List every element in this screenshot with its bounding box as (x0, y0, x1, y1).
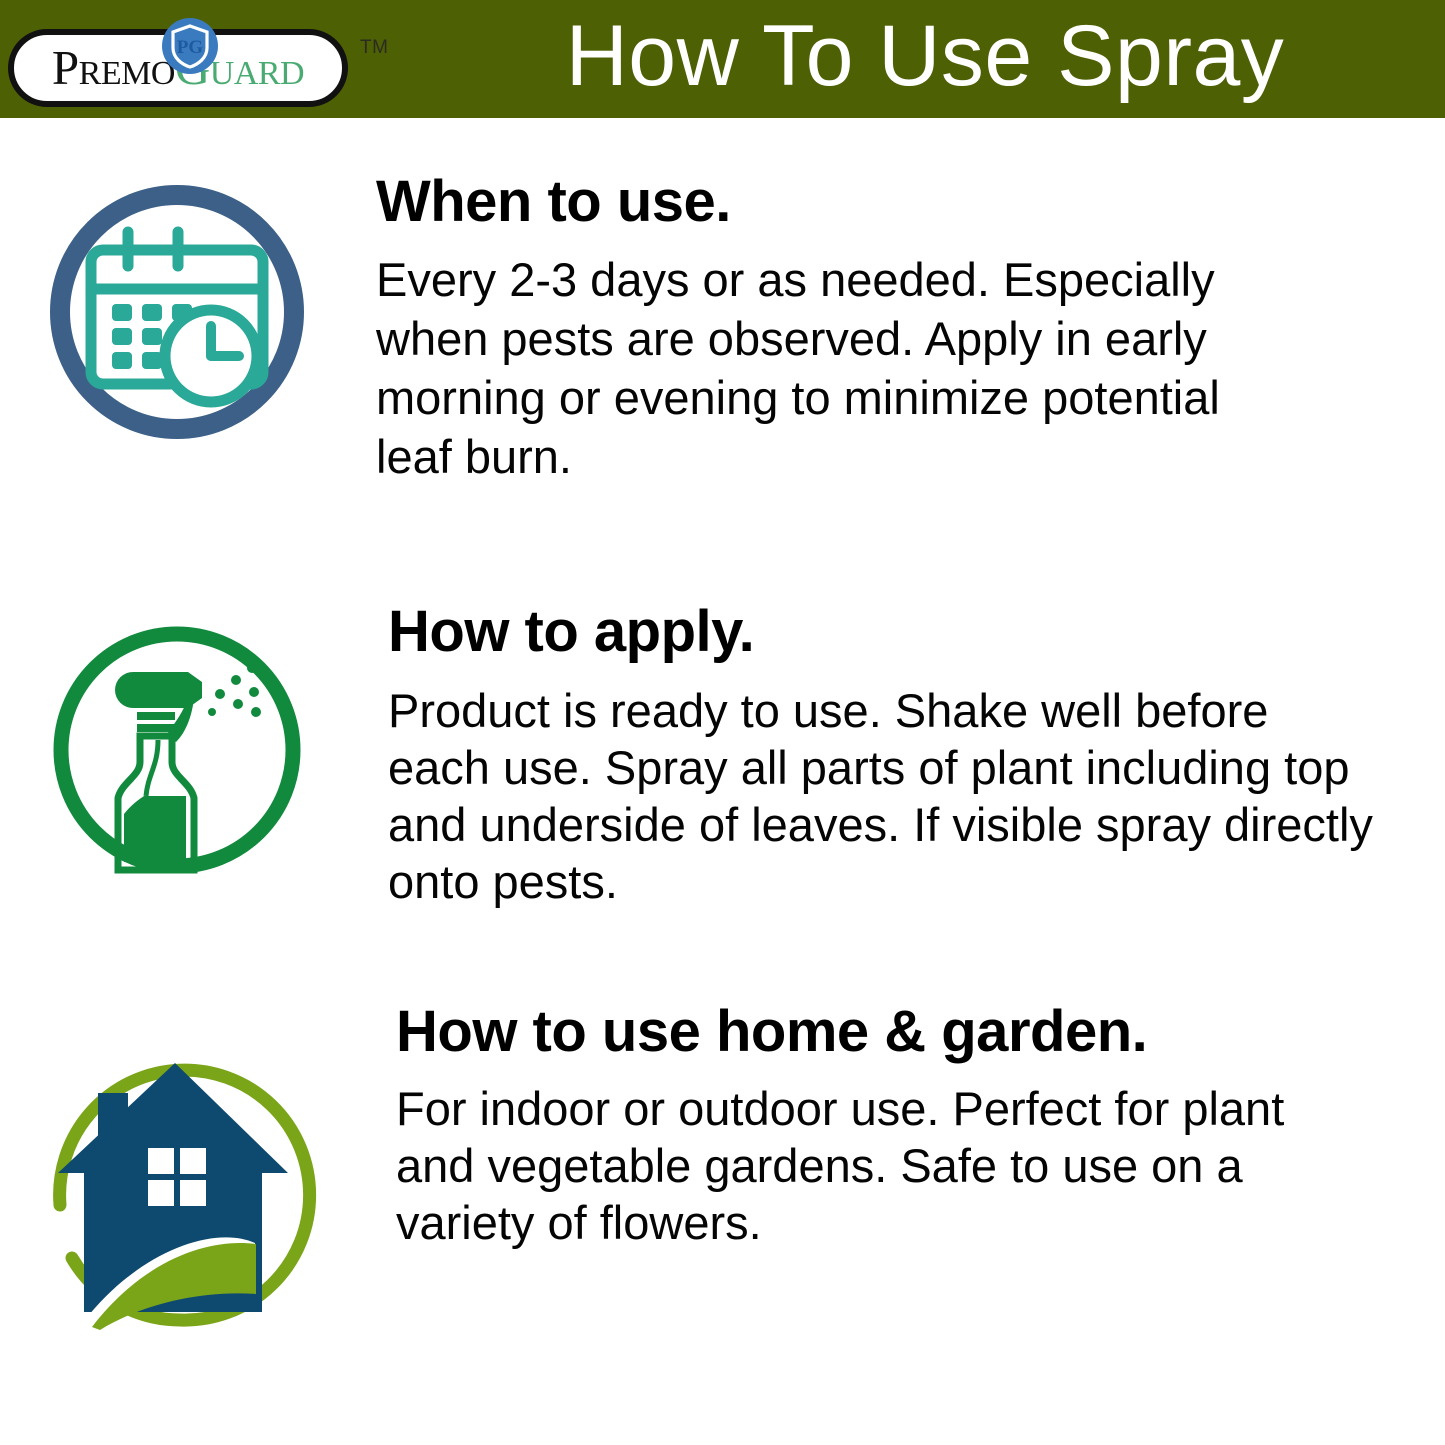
section-body: Product is ready to use. Shake well befo… (388, 682, 1378, 910)
brand-logo: PremoGuard PG TM (8, 17, 358, 109)
shield-badge-icon: PG (161, 17, 219, 75)
icon-slot-when-to-use (30, 170, 340, 510)
icon-slot-how-to-apply (30, 600, 340, 940)
text-slot-how-to-apply: How to apply. Product is ready to use. S… (388, 600, 1378, 910)
section-how-to-apply: How to apply. Product is ready to use. S… (0, 600, 1445, 980)
section-body: Every 2-3 days or as needed. Especially … (376, 250, 1306, 486)
calendar-clock-icon (30, 170, 330, 500)
section-home-and-garden: How to use home & garden. For indoor or … (0, 1000, 1445, 1370)
trademark-symbol: TM (360, 37, 388, 59)
logo-brand-first: Premo (52, 40, 175, 95)
page-header: PremoGuard PG TM How To Use Spray (0, 0, 1445, 118)
shield-badge-text: PG (177, 37, 204, 58)
page-title: How To Use Spray (420, 0, 1430, 118)
spray-bottle-icon (30, 600, 330, 930)
section-heading: How to use home & garden. (396, 1000, 1366, 1064)
house-garden-icon (30, 1000, 360, 1350)
section-heading: When to use. (376, 170, 1306, 234)
icon-slot-home-and-garden (30, 1000, 340, 1340)
section-when-to-use: When to use. Every 2-3 days or as needed… (0, 170, 1445, 570)
text-slot-home-and-garden: How to use home & garden. For indoor or … (396, 1000, 1366, 1251)
section-body: For indoor or outdoor use. Perfect for p… (396, 1080, 1366, 1251)
text-slot-when-to-use: When to use. Every 2-3 days or as needed… (376, 170, 1306, 486)
section-heading: How to apply. (388, 600, 1378, 664)
